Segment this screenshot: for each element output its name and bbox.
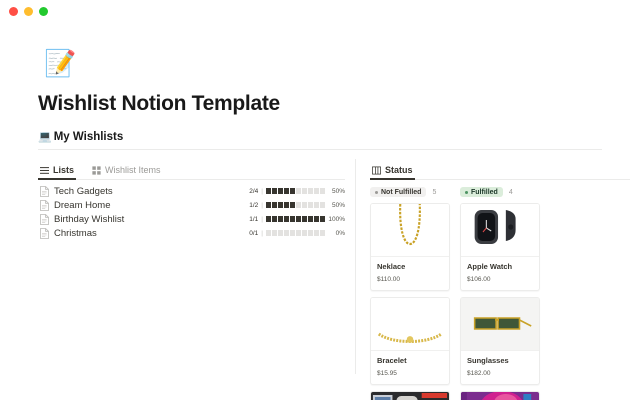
progress-bar [266, 188, 325, 194]
section-heading: 💻 My Wishlists [38, 130, 640, 143]
progress-segment [296, 188, 301, 194]
progress-segment [272, 202, 277, 208]
progress-segment [278, 230, 283, 236]
retro-console-photo [371, 392, 449, 400]
page-content: 📝 Wishlist Notion Template 💻 My Wishlist… [0, 48, 640, 399]
sunglasses-photo [461, 298, 539, 350]
list-item-label: Birthday Wishlist [54, 214, 249, 225]
progress-indicator: 0/1|0% [249, 230, 345, 237]
section-heading-label: My Wishlists [54, 131, 124, 143]
laptop-emoji-icon: 💻 [38, 130, 52, 143]
progress-segment [314, 230, 319, 236]
item-card-title: Neklace [377, 262, 443, 271]
progress-segment [266, 230, 271, 236]
progress-percent: 100% [328, 216, 345, 223]
item-card[interactable]: Sunglasses$182.00 [460, 297, 540, 385]
progress-percent: 0% [328, 230, 345, 237]
status-group: Fulfilled4Apple Watch$106.00Sunglasses$1… [460, 187, 540, 400]
progress-fraction: 0/1 [249, 230, 258, 237]
gold-bracelet-photo [371, 298, 449, 350]
item-card[interactable] [370, 391, 450, 400]
progress-fraction: 1/2 [249, 202, 258, 209]
gold-necklace-photo [371, 204, 449, 256]
progress-bar [266, 216, 325, 222]
progress-segment [314, 216, 319, 222]
progress-segment [290, 230, 295, 236]
page-icon [40, 186, 49, 197]
progress-indicator: 1/2|50% [249, 202, 345, 209]
heading-divider [38, 149, 602, 150]
progress-segment [278, 188, 283, 194]
item-card-price: $110.00 [377, 276, 443, 283]
progress-segment [320, 188, 325, 194]
board-icon [372, 166, 381, 175]
item-card-body: Apple Watch$106.00 [461, 256, 539, 290]
progress-percent: 50% [328, 202, 345, 209]
list-item[interactable]: Dream Home1/2|50% [38, 198, 345, 212]
grid-icon [92, 166, 101, 175]
progress-bar [266, 230, 325, 236]
item-card-title: Sunglasses [467, 356, 533, 365]
list-item-label: Dream Home [54, 200, 249, 211]
progress-segment [320, 202, 325, 208]
status-tabbar: Status [370, 159, 630, 180]
magenta-device-photo [461, 392, 539, 400]
progress-segment [320, 230, 325, 236]
progress-segment [290, 202, 295, 208]
item-card-title: Apple Watch [467, 262, 533, 271]
progress-segment [284, 202, 289, 208]
progress-segment [278, 216, 283, 222]
minimize-window-button[interactable] [24, 7, 33, 16]
progress-segment [302, 230, 307, 236]
item-card[interactable] [460, 391, 540, 400]
status-group-header: Not Fulfilled5 [370, 187, 450, 197]
status-group-count: 5 [432, 189, 436, 196]
progress-segment [314, 188, 319, 194]
page-title: Wishlist Notion Template [38, 92, 640, 116]
status-panel: Status Not Fulfilled5Neklace$110.00Brace… [356, 159, 630, 399]
progress-segment [308, 230, 313, 236]
progress-segment [290, 216, 295, 222]
close-window-button[interactable] [9, 7, 18, 16]
progress-segment [272, 230, 277, 236]
progress-segment [308, 202, 313, 208]
list-item[interactable]: Tech Gadgets2/4|50% [38, 184, 345, 198]
window-titlebar [0, 0, 640, 22]
status-badge-label: Fulfilled [471, 189, 498, 196]
tab-status-label: Status [385, 165, 413, 175]
item-card-body: Neklace$110.00 [371, 256, 449, 290]
progress-percent: 50% [328, 188, 345, 195]
status-group: Not Fulfilled5Neklace$110.00Bracelet$15.… [370, 187, 450, 400]
status-dot-icon [465, 191, 468, 194]
content-columns: Lists Wishlist Items Tech Gadgets2/4|50%… [0, 159, 640, 399]
item-card[interactable]: Bracelet$15.95 [370, 297, 450, 385]
item-card-title: Bracelet [377, 356, 443, 365]
status-badge[interactable]: Fulfilled [460, 187, 503, 197]
progress-segment [266, 188, 271, 194]
wishlist-rows: Tech Gadgets2/4|50%Dream Home1/2|50%Birt… [38, 184, 345, 240]
progress-segment [296, 202, 301, 208]
status-group-count: 4 [509, 189, 513, 196]
status-badge[interactable]: Not Fulfilled [370, 187, 426, 197]
progress-segment [266, 202, 271, 208]
list-item-label: Tech Gadgets [54, 186, 249, 197]
list-item-label: Christmas [54, 228, 249, 239]
progress-segment [314, 202, 319, 208]
progress-fraction: 1/1 [249, 216, 258, 223]
progress-segment [308, 188, 313, 194]
lists-tabbar: Lists Wishlist Items [38, 159, 345, 180]
list-item[interactable]: Christmas0/1|0% [38, 226, 345, 240]
progress-segment [278, 202, 283, 208]
status-groups: Not Fulfilled5Neklace$110.00Bracelet$15.… [370, 187, 630, 400]
item-card-price: $182.00 [467, 370, 533, 377]
tab-lists[interactable]: Lists [38, 165, 76, 179]
progress-segment [320, 216, 325, 222]
apple-watch-photo [461, 204, 539, 256]
lists-panel: Lists Wishlist Items Tech Gadgets2/4|50%… [38, 159, 345, 399]
status-group-header: Fulfilled4 [460, 187, 540, 197]
status-badge-label: Not Fulfilled [381, 189, 421, 196]
progress-fraction: 2/4 [249, 188, 258, 195]
item-card-price: $15.95 [377, 370, 443, 377]
memo-pencil-emoji-icon[interactable]: 📝 [44, 48, 74, 78]
progress-segment [284, 216, 289, 222]
progress-segment [296, 230, 301, 236]
item-card[interactable]: Neklace$110.00 [370, 203, 450, 291]
progress-segment [284, 230, 289, 236]
progress-segment [308, 216, 313, 222]
item-card-price: $106.00 [467, 276, 533, 283]
progress-segment [302, 188, 307, 194]
progress-segment [302, 202, 307, 208]
progress-segment [266, 216, 271, 222]
progress-segment [272, 188, 277, 194]
tab-wishlist-items-label: Wishlist Items [105, 165, 161, 175]
tab-lists-label: Lists [53, 165, 74, 175]
list-icon [40, 166, 49, 175]
progress-segment [296, 216, 301, 222]
list-item[interactable]: Birthday Wishlist1/1|100% [38, 212, 345, 226]
progress-segment [284, 188, 289, 194]
progress-segment [272, 216, 277, 222]
zoom-window-button[interactable] [39, 7, 48, 16]
progress-segment [290, 188, 295, 194]
status-dot-icon [375, 191, 378, 194]
item-card-body: Sunglasses$182.00 [461, 350, 539, 384]
progress-segment [302, 216, 307, 222]
progress-indicator: 1/1|100% [249, 216, 345, 223]
page-icon [40, 214, 49, 225]
item-card[interactable]: Apple Watch$106.00 [460, 203, 540, 291]
page-icon [40, 200, 49, 211]
tab-status[interactable]: Status [370, 165, 415, 179]
item-card-body: Bracelet$15.95 [371, 350, 449, 384]
tab-wishlist-items[interactable]: Wishlist Items [90, 165, 163, 179]
progress-indicator: 2/4|50% [249, 188, 345, 195]
progress-bar [266, 202, 325, 208]
page-icon [40, 228, 49, 239]
